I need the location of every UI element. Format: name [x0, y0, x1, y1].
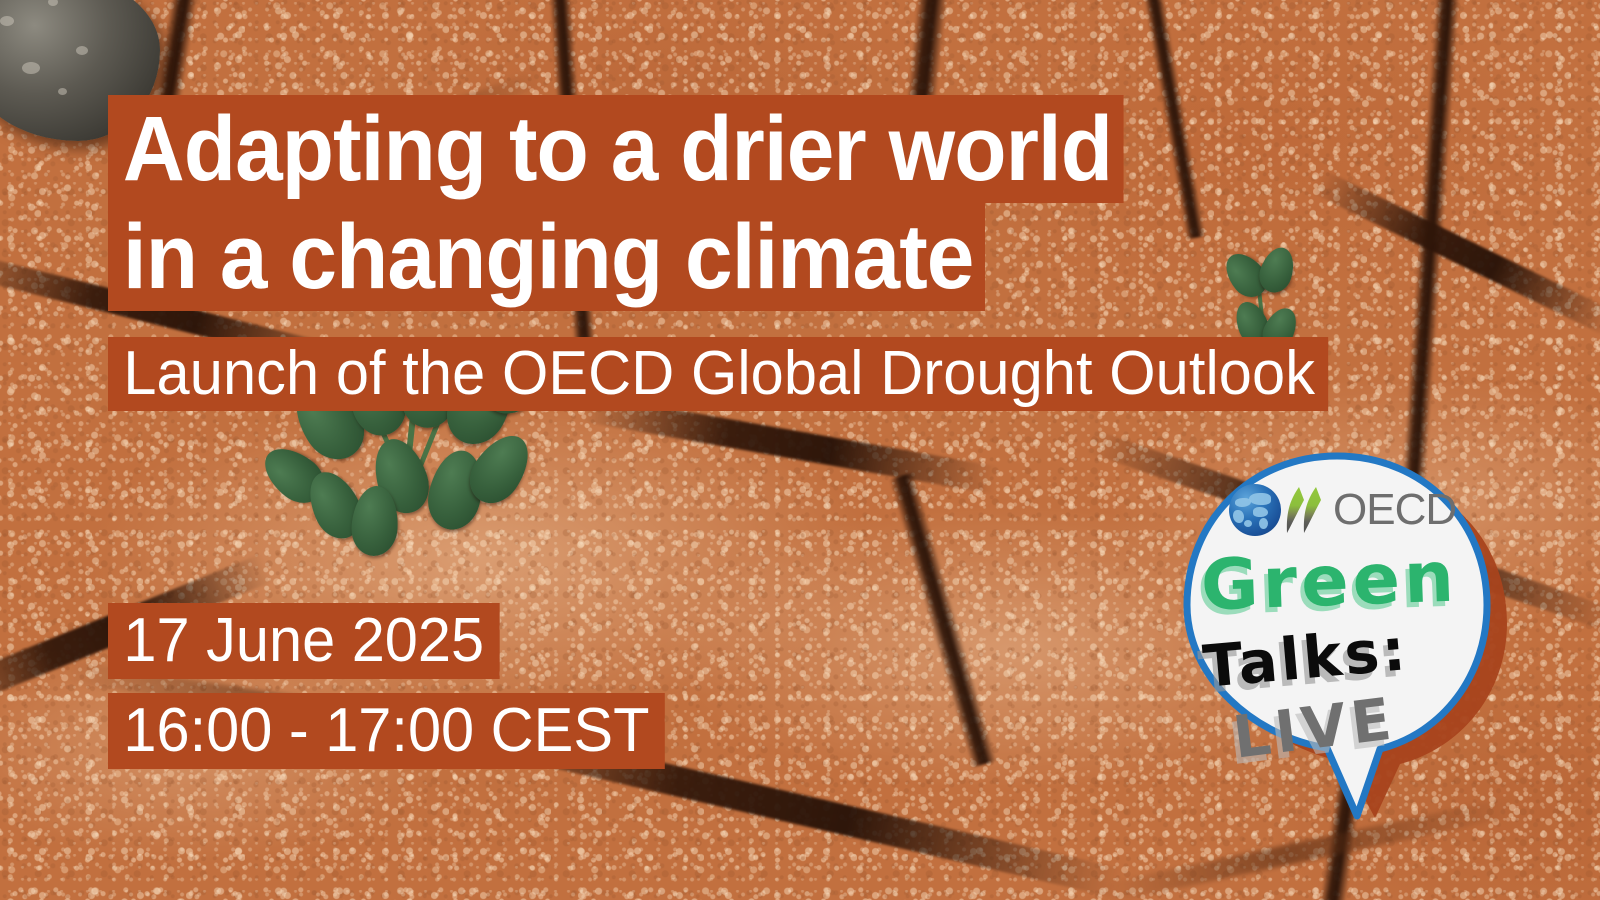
title-line-1: Adapting to a drier world — [108, 95, 1123, 203]
logo-green-text: Green — [1200, 536, 1459, 627]
logo-live-text: LIVE — [1229, 684, 1399, 771]
subtitle-block: Launch of the OECD Global Drought Outloo… — [108, 337, 1379, 411]
subtitle-text: Launch of the OECD Global Drought Outloo… — [108, 337, 1329, 411]
oecd-leaves-icon — [1284, 484, 1330, 536]
title-line-2: in a changing climate — [108, 203, 985, 311]
title-block: Adapting to a drier world in a changing … — [108, 95, 1200, 311]
event-datetime-block: 17 June 2025 16:00 - 17:00 CEST — [108, 603, 688, 769]
event-date: 17 June 2025 — [108, 603, 499, 679]
globe-icon — [1229, 484, 1281, 536]
oecd-word: OECD — [1333, 488, 1456, 532]
logo-content: OECD Green Talks: LIVE — [1175, 448, 1495, 778]
oecd-wordmark: OECD — [1229, 484, 1456, 536]
event-time: 16:00 - 17:00 CEST — [108, 693, 665, 769]
event-promo-poster: Adapting to a drier world in a changing … — [0, 0, 1600, 900]
oecd-green-talks-live-logo: OECD Green Talks: LIVE — [1175, 448, 1515, 838]
